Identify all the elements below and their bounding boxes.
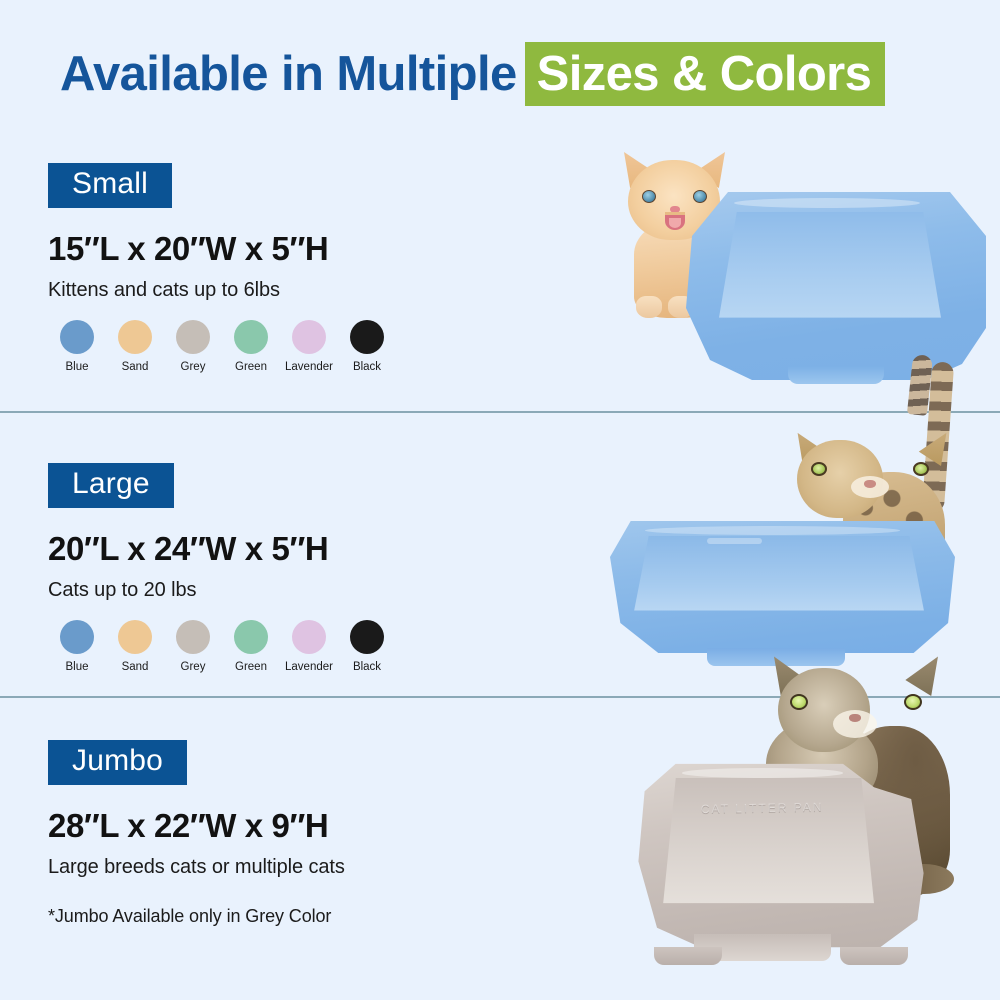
section-jumbo: Jumbo 28″L x 22″W x 9″H Large breeds cat… <box>48 740 518 927</box>
litter-box-small <box>686 184 986 384</box>
swatch-label-sand: Sand <box>122 661 149 673</box>
litter-box-large-rim-highlight <box>645 526 900 535</box>
infographic-page: Available in Multiple Sizes & Colors Sma… <box>0 0 1000 1000</box>
litter-box-large <box>610 512 955 662</box>
swatch-blue[interactable]: Blue <box>48 620 106 673</box>
section-small: Small 15″L x 20″W x 5″H Kittens and cats… <box>48 163 518 373</box>
swatch-label-grey: Grey <box>181 361 206 373</box>
litter-box-jumbo-rim-highlight <box>682 768 843 778</box>
page-title-highlight-bg: Sizes & Colors <box>525 42 886 106</box>
subtitle-jumbo: Large breeds cats or multiple cats <box>48 856 518 879</box>
swatch-dot-green <box>234 320 268 354</box>
litter-box-large-emboss <box>707 538 762 544</box>
section-large: Large 20″L x 24″W x 5″H Cats up to 20 lb… <box>48 463 518 673</box>
tabby-eye-right <box>904 694 922 710</box>
dimensions-large: 20″L x 24″W x 5″H <box>48 530 518 568</box>
litter-box-jumbo-foot-right <box>840 947 908 965</box>
tabby-ear-right <box>904 654 938 696</box>
swatch-black[interactable]: Black <box>338 320 396 373</box>
tabby-nose <box>849 714 861 722</box>
swatch-green[interactable]: Green <box>222 320 280 373</box>
kitten-paw-left <box>636 296 662 318</box>
bengal-eye-left <box>811 462 827 476</box>
swatch-dot-grey <box>176 320 210 354</box>
page-title-primary: Available in Multiple <box>60 38 517 110</box>
swatch-label-black: Black <box>353 661 381 673</box>
swatch-row-large: Blue Sand Grey Green Lavender Black <box>48 620 518 673</box>
litter-box-jumbo-emboss: CAT LITTER PAN <box>694 798 831 818</box>
size-badge-small: Small <box>48 163 172 208</box>
swatch-grey[interactable]: Grey <box>164 620 222 673</box>
litter-box-small-rim-highlight <box>734 198 920 208</box>
page-title-highlight: Sizes & Colors <box>537 46 872 102</box>
swatch-lavender[interactable]: Lavender <box>280 620 338 673</box>
swatch-label-lavender: Lavender <box>285 361 333 373</box>
swatch-dot-blue <box>60 620 94 654</box>
litter-box-large-interior <box>634 536 924 617</box>
dimensions-jumbo: 28″L x 22″W x 9″H <box>48 807 518 845</box>
swatch-black[interactable]: Black <box>338 620 396 673</box>
kitten-eye-left <box>642 190 656 203</box>
kitten-tongue <box>669 218 681 228</box>
subtitle-small: Kittens and cats up to 6lbs <box>48 279 518 302</box>
swatch-dot-blue <box>60 320 94 354</box>
size-badge-large: Large <box>48 463 174 508</box>
swatch-sand[interactable]: Sand <box>106 320 164 373</box>
swatch-label-green: Green <box>235 361 267 373</box>
swatch-dot-sand <box>118 320 152 354</box>
swatch-label-grey: Grey <box>181 661 206 673</box>
swatch-dot-black <box>350 620 384 654</box>
swatch-dot-black <box>350 320 384 354</box>
subtitle-large: Cats up to 20 lbs <box>48 579 518 602</box>
swatch-label-blue: Blue <box>65 361 88 373</box>
bengal-nose <box>864 480 876 488</box>
swatch-blue[interactable]: Blue <box>48 320 106 373</box>
page-header: Available in Multiple Sizes & Colors <box>0 38 1000 110</box>
litter-box-jumbo-foot-left <box>654 947 722 965</box>
swatch-dot-lavender <box>292 320 326 354</box>
swatch-label-sand: Sand <box>122 361 149 373</box>
product-photo-jumbo: CAT LITTER PAN <box>620 650 1000 1000</box>
swatch-sand[interactable]: Sand <box>106 620 164 673</box>
swatch-label-black: Black <box>353 361 381 373</box>
swatch-grey[interactable]: Grey <box>164 320 222 373</box>
swatch-dot-lavender <box>292 620 326 654</box>
litter-box-jumbo: CAT LITTER PAN <box>626 760 936 955</box>
swatch-dot-grey <box>176 620 210 654</box>
size-badge-jumbo: Jumbo <box>48 740 187 785</box>
swatch-label-lavender: Lavender <box>285 661 333 673</box>
jumbo-color-note: *Jumbo Available only in Grey Color <box>48 906 518 927</box>
swatch-row-small: Blue Sand Grey Green Lavender Black <box>48 320 518 373</box>
tabby-eye-left <box>790 694 808 710</box>
dimensions-small: 15″L x 20″W x 5″H <box>48 230 518 268</box>
litter-box-small-front-notch <box>788 366 884 384</box>
swatch-label-green: Green <box>235 661 267 673</box>
bengal-eye-right <box>913 462 929 476</box>
swatch-dot-green <box>234 620 268 654</box>
swatch-lavender[interactable]: Lavender <box>280 320 338 373</box>
litter-box-small-interior <box>719 212 941 332</box>
swatch-dot-sand <box>118 620 152 654</box>
swatch-green[interactable]: Green <box>222 620 280 673</box>
swatch-label-blue: Blue <box>65 661 88 673</box>
